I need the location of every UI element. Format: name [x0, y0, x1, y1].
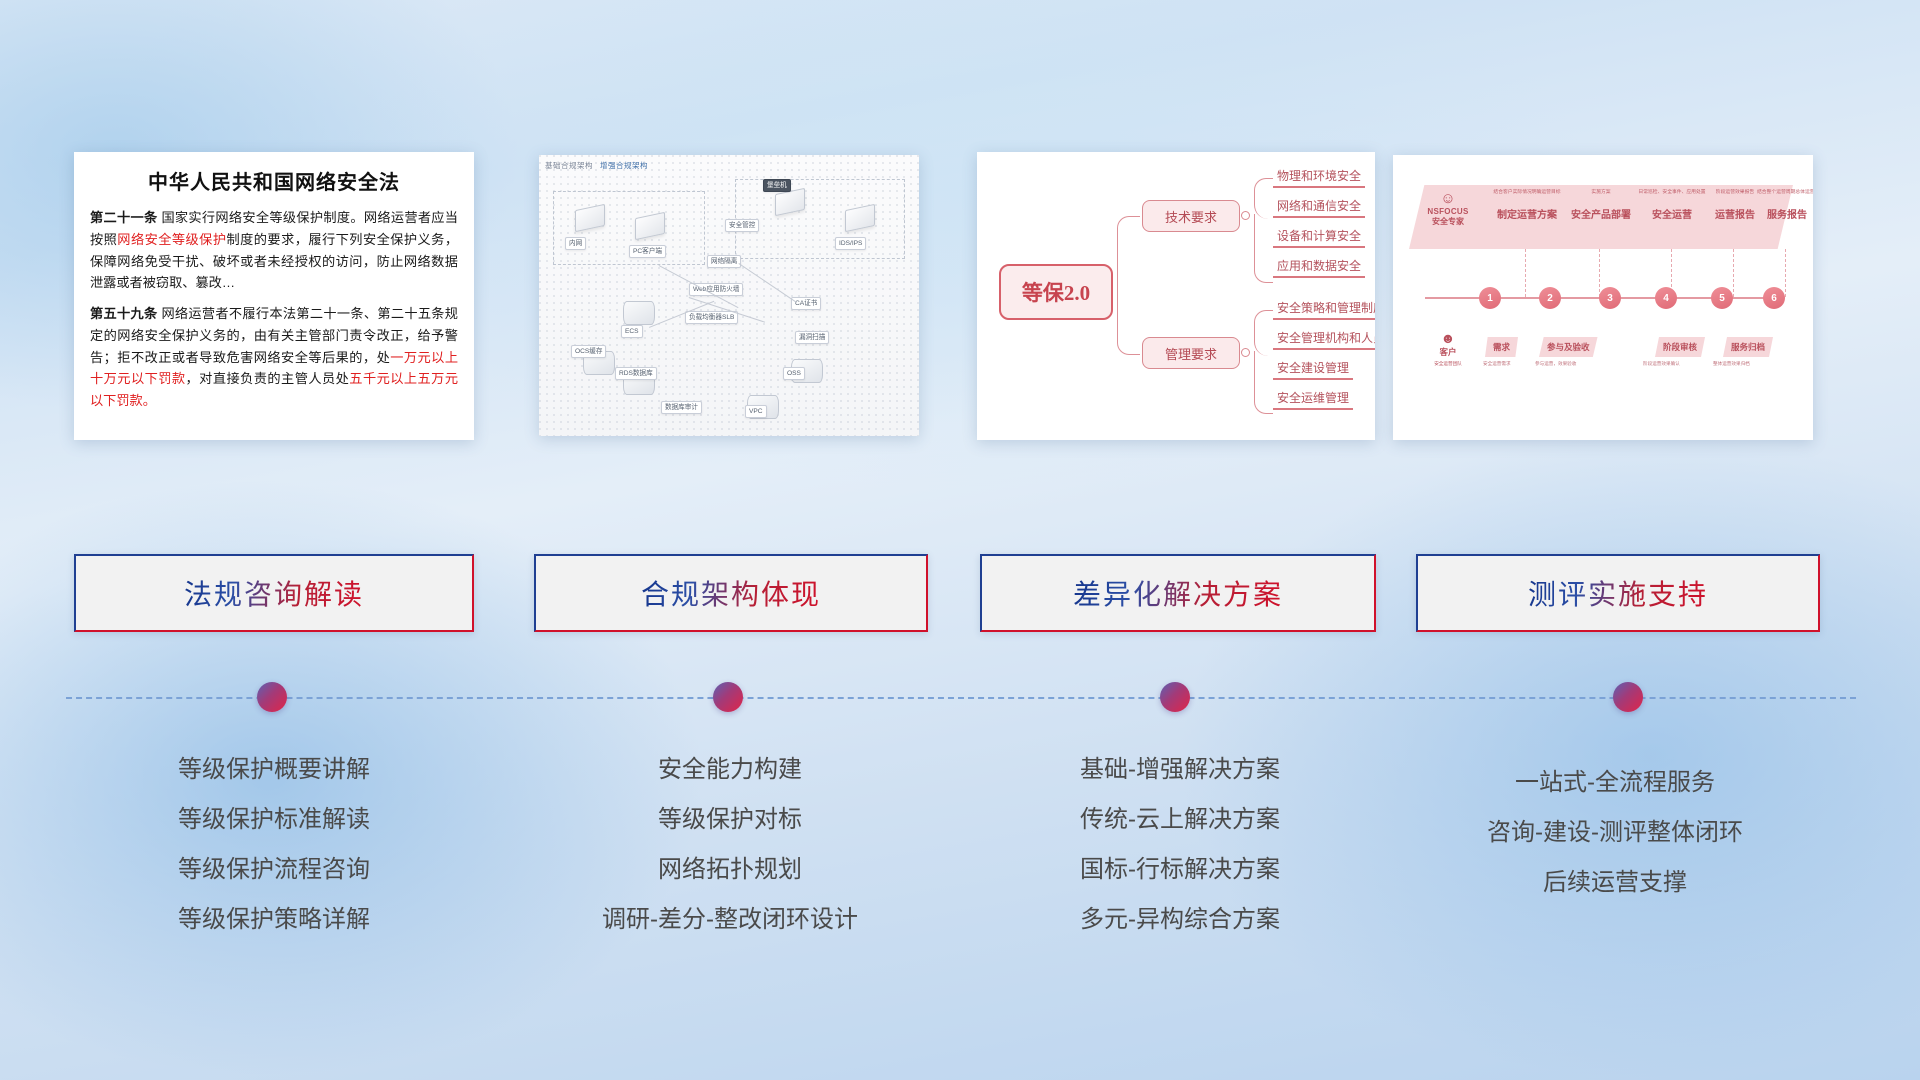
preview-card-architecture: 基础合规架构增强合规架构 内网 PC客户端 堡垒机 安全管控 IDS/IPS 网… — [539, 155, 919, 436]
architecture-node-5: IDS/IPS — [835, 237, 866, 250]
mindmap-fan-mgmt-up — [1254, 310, 1273, 356]
section-header-1[interactable]: 合规架构体现 — [534, 554, 928, 632]
architecture-tabs: 基础合规架构增强合规架构 — [545, 160, 648, 171]
nsfocus-tag-2: 阶段审核 — [1655, 337, 1705, 357]
mindmap-leaf-tech-0: 物理和环境安全 — [1273, 166, 1365, 188]
preview-card-nsfocus: ☺ NSFOCUS 安全专家 结合客户实际情况明确运营目标 制定运营方案 实施方… — [1393, 155, 1813, 440]
nsfocus-tag-0-sub: 安全运营需求 — [1483, 361, 1511, 367]
list-item: 后续运营支撑 — [1405, 858, 1825, 908]
preview-card-mindmap: 等保2.0 技术要求 物理和环境安全 网络和通信安全 设备和计算安全 应用和数据… — [977, 152, 1375, 440]
list-item: 咨询-建设-测评整体闭环 — [1405, 808, 1825, 858]
nsfocus-customer-block: ☻ 客户 安全运营团队 — [1419, 331, 1477, 367]
list-item: 安全能力构建 — [530, 745, 930, 795]
timeline-dot-2 — [1160, 682, 1190, 712]
nsfocus-vline-0 — [1525, 249, 1526, 297]
architecture-node-9: CA证书 — [791, 297, 821, 310]
architecture-tab-enhanced: 增强合规架构 — [600, 161, 648, 170]
nsfocus-step-4: 4 — [1655, 287, 1677, 309]
nsfocus-phase-0-title: 制定运营方案 — [1489, 206, 1565, 221]
nsfocus-customer-line1: 客户 — [1419, 346, 1477, 358]
architecture-node-8: 负载均衡器SLB — [685, 311, 738, 324]
mindmap-root-node: 等保2.0 — [999, 264, 1113, 320]
list-item: 国标-行标解决方案 — [975, 845, 1385, 895]
nsfocus-tag-3: 服务归档 — [1723, 337, 1773, 357]
nsfocus-customer-line2: 安全运营团队 — [1419, 361, 1477, 367]
architecture-node-12: OCS缓存 — [571, 345, 606, 358]
law-document: 中华人民共和国网络安全法 第二十一条 国家实行网络安全等级保护制度。网络运营者应… — [74, 152, 474, 440]
nsfocus-phase-3-title: 运营报告 — [1705, 206, 1765, 221]
architecture-node-2: 网络隔离 — [707, 255, 741, 268]
section-header-2-label: 差异化解决方案 — [1073, 573, 1283, 613]
architecture-node-16: VPC — [745, 405, 767, 418]
mindmap-connector-mgmt — [1117, 292, 1140, 355]
mindmap-leaf-mgmt-1: 安全管理机构和人员 — [1273, 328, 1375, 350]
nsfocus-expert-block: ☺ NSFOCUS 安全专家 — [1419, 191, 1477, 227]
nsfocus-service-flow: ☺ NSFOCUS 安全专家 结合客户实际情况明确运营目标 制定运营方案 实施方… — [1393, 155, 1813, 440]
timeline-dot-0 — [257, 682, 287, 712]
section-header-2[interactable]: 差异化解决方案 — [980, 554, 1376, 632]
section-items-1: 安全能力构建 等级保护对标 网络拓扑规划 调研-差分-整改闭环设计 — [530, 745, 930, 945]
preview-card-law: 中华人民共和国网络安全法 第二十一条 国家实行网络安全等级保护制度。网络运营者应… — [74, 152, 474, 440]
nsfocus-logo-line1: NSFOCUS — [1419, 207, 1477, 216]
mindmap-fan-tech-down — [1254, 214, 1273, 283]
nsfocus-phase-1: 实施方案 安全产品部署 — [1565, 189, 1637, 221]
list-item: 基础-增强解决方案 — [975, 745, 1385, 795]
list-item: 等级保护流程咨询 — [74, 845, 474, 895]
section-header-3[interactable]: 测评实施支持 — [1416, 554, 1820, 632]
nsfocus-tag-0: 需求 — [1485, 337, 1518, 357]
nsfocus-phase-0-sub: 结合客户实际情况明确运营目标 — [1489, 189, 1565, 197]
nsfocus-tag-3-sub: 整体运营效果归档 — [1713, 361, 1750, 367]
customer-icon: ☻ — [1419, 331, 1477, 346]
architecture-node-13: RDS数据库 — [615, 367, 657, 380]
nsfocus-phase-3-sub: 阶段运营效果报告 — [1705, 189, 1765, 197]
nsfocus-phase-4: 结合整个运营周期总体运营效果 服务报告 — [1757, 189, 1813, 221]
architecture-link-2 — [738, 263, 797, 303]
list-item: 网络拓扑规划 — [530, 845, 930, 895]
architecture-zone-edge — [735, 179, 905, 259]
mindmap-branch-tech: 技术要求 — [1142, 200, 1240, 232]
law-article-59-mid: ，对直接负责的主管人员处 — [186, 371, 350, 386]
list-item: 等级保护概要讲解 — [74, 745, 474, 795]
nsfocus-phase-2-sub: 日常巡检、安全事件、应用处置 — [1633, 189, 1711, 197]
mindmap-leaf-tech-2: 设备和计算安全 — [1273, 226, 1365, 248]
mindmap-leaf-mgmt-0: 安全策略和管理制度 — [1273, 298, 1375, 320]
nsfocus-vline-3 — [1733, 249, 1734, 297]
mindmap-leaf-tech-3: 应用和数据安全 — [1273, 256, 1365, 278]
architecture-tab-basic: 基础合规架构 — [545, 161, 593, 170]
mindmap-leaf-tech-1: 网络和通信安全 — [1273, 196, 1365, 218]
section-items-2: 基础-增强解决方案 传统-云上解决方案 国标-行标解决方案 多元-异构综合方案 — [975, 745, 1385, 945]
list-item: 等级保护对标 — [530, 795, 930, 845]
mindmap-branch-mgmt: 管理要求 — [1142, 337, 1240, 369]
nsfocus-vline-4 — [1785, 249, 1786, 297]
nsfocus-phase-3: 阶段运营效果报告 运营报告 — [1705, 189, 1765, 221]
law-article-59-label: 第五十九条 — [90, 306, 157, 321]
list-item: 调研-差分-整改闭环设计 — [530, 895, 930, 945]
list-item: 等级保护策略详解 — [74, 895, 474, 945]
nsfocus-step-6: 6 — [1763, 287, 1785, 309]
nsfocus-phase-2-title: 安全运营 — [1633, 206, 1711, 221]
list-item: 多元-异构综合方案 — [975, 895, 1385, 945]
mindmap-collapse-dot-mgmt[interactable] — [1241, 348, 1250, 357]
timeline-axis — [66, 697, 1856, 699]
nsfocus-phase-1-sub: 实施方案 — [1565, 189, 1637, 197]
nsfocus-step-2: 2 — [1539, 287, 1561, 309]
nsfocus-step-1: 1 — [1479, 287, 1501, 309]
nsfocus-phase-2: 日常巡检、安全事件、应用处置 安全运营 — [1633, 189, 1711, 221]
architecture-node-3: 堡垒机 — [763, 179, 791, 192]
nsfocus-step-3: 3 — [1599, 287, 1621, 309]
list-item: 一站式-全流程服务 — [1405, 758, 1825, 808]
architecture-node-0: 内网 — [565, 237, 586, 250]
section-header-0-label: 法规咨询解读 — [184, 573, 364, 613]
list-item: 等级保护标准解读 — [74, 795, 474, 845]
architecture-node-11: ECS — [621, 325, 643, 338]
architecture-node-1: 安全管控 — [725, 219, 759, 232]
person-icon: ☺ — [1419, 191, 1477, 207]
architecture-diagram: 基础合规架构增强合规架构 内网 PC客户端 堡垒机 安全管控 IDS/IPS 网… — [539, 155, 919, 436]
architecture-node-15: OSS — [783, 367, 805, 380]
architecture-icon-ecs — [623, 301, 655, 325]
mindmap-leaf-mgmt-3: 安全运维管理 — [1273, 388, 1353, 410]
nsfocus-logo-line2: 安全专家 — [1419, 216, 1477, 227]
nsfocus-vline-1 — [1599, 249, 1600, 297]
nsfocus-tag-2-sub: 阶段运营效果确认 — [1643, 361, 1680, 367]
timeline-dot-3 — [1613, 682, 1643, 712]
nsfocus-step-5: 5 — [1711, 287, 1733, 309]
architecture-node-10: 漏洞扫描 — [795, 331, 829, 344]
mindmap: 等保2.0 技术要求 物理和环境安全 网络和通信安全 设备和计算安全 应用和数据… — [977, 152, 1375, 440]
mindmap-fan-mgmt-down — [1254, 351, 1273, 414]
nsfocus-tag-1: 参与及验收 — [1539, 337, 1598, 357]
nsfocus-phase-1-title: 安全产品部署 — [1565, 206, 1637, 221]
law-article-21-label: 第二十一条 — [90, 210, 157, 225]
list-item: 传统-云上解决方案 — [975, 795, 1385, 845]
law-article-59: 第五十九条 网络运营者不履行本法第二十一条、第二十五条规定的网络安全保护义务的，… — [90, 303, 458, 412]
nsfocus-tag-1-sub: 参与运营，效果验收 — [1535, 361, 1576, 367]
mindmap-collapse-dot-tech[interactable] — [1241, 211, 1250, 220]
timeline-dot-1 — [713, 682, 743, 712]
nsfocus-phase-4-sub: 结合整个运营周期总体运营效果 — [1757, 189, 1813, 197]
nsfocus-phase-0: 结合客户实际情况明确运营目标 制定运营方案 — [1489, 189, 1565, 221]
mindmap-connector-tech — [1117, 216, 1140, 293]
section-items-0: 等级保护概要讲解 等级保护标准解读 等级保护流程咨询 等级保护策略详解 — [74, 745, 474, 945]
section-items-3: 一站式-全流程服务 咨询-建设-测评整体闭环 后续运营支撑 — [1405, 745, 1825, 908]
architecture-node-6: PC客户端 — [629, 245, 666, 258]
section-header-3-label: 测评实施支持 — [1528, 573, 1708, 613]
architecture-node-14: 数据库审计 — [661, 401, 702, 414]
slide-root: 中华人民共和国网络安全法 第二十一条 国家实行网络安全等级保护制度。网络运营者应… — [0, 0, 1920, 1080]
mindmap-leaf-mgmt-2: 安全建设管理 — [1273, 358, 1353, 380]
nsfocus-phase-4-title: 服务报告 — [1757, 206, 1813, 221]
law-title: 中华人民共和国网络安全法 — [90, 166, 458, 195]
law-article-21-highlight: 网络安全等级保护 — [117, 232, 226, 247]
mindmap-fan-tech-up — [1254, 178, 1273, 219]
law-article-21: 第二十一条 国家实行网络安全等级保护制度。网络运营者应当按照网络安全等级保护制度… — [90, 207, 458, 294]
section-header-0[interactable]: 法规咨询解读 — [74, 554, 474, 632]
section-header-1-label: 合规架构体现 — [641, 573, 821, 613]
